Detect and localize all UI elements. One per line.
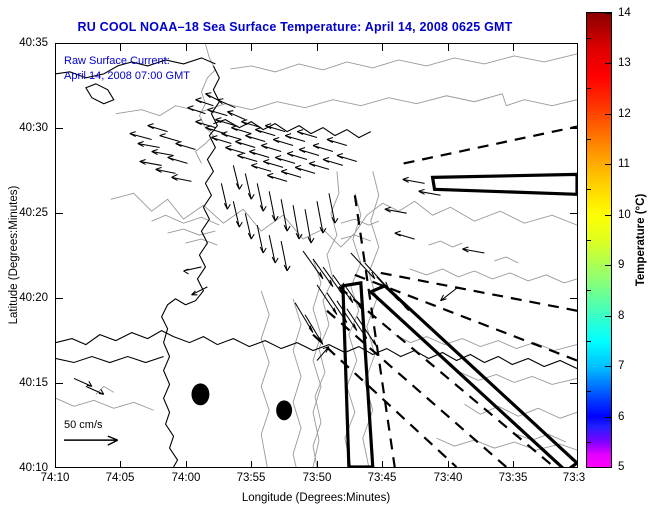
colorbar-tick-label: 6 (618, 411, 624, 423)
colorbar-tick-label: 14 (618, 7, 631, 19)
x-tick-label: 73:3 (563, 472, 585, 484)
station-markers (191, 383, 292, 420)
coastline (56, 58, 577, 467)
x-tick-label: 73:35 (499, 472, 528, 484)
current-annotation-line1: Raw Surface Current: (64, 54, 170, 69)
y-tick-label: 40:25 (19, 207, 48, 219)
y-tick-label: 40:20 (19, 292, 48, 304)
sst-map-figure: RU COOL NOAA–18 Sea Surface Temperature:… (0, 0, 651, 519)
colorbar-tick-label: 11 (618, 158, 630, 170)
figure-title: RU COOL NOAA–18 Sea Surface Temperature:… (0, 20, 590, 34)
colorbar-tick-label: 10 (618, 209, 631, 221)
surface-current-vectors (74, 93, 484, 395)
current-annotation-line2: April 14, 2008 07:00 GMT (64, 69, 190, 84)
colorbar-tick-label: 8 (618, 310, 624, 322)
x-tick-label: 73:55 (237, 472, 266, 484)
x-tick-label: 74:00 (172, 472, 201, 484)
x-tick-label: 73:50 (303, 472, 332, 484)
map-graphics (56, 44, 577, 467)
x-tick-label: 73:45 (368, 472, 397, 484)
x-tick-label: 73:40 (434, 472, 463, 484)
colorbar-tick-label: 12 (618, 108, 631, 120)
sst-contour-lines (56, 44, 577, 467)
x-axis-label: Longitude (Degrees:Minutes) (242, 492, 390, 504)
scalebar-arrow (64, 436, 118, 445)
station-marker (276, 400, 292, 420)
colorbar-tick-label: 5 (618, 461, 624, 473)
y-tick-label: 40:35 (19, 37, 48, 49)
station-marker (191, 383, 209, 405)
colorbar-label: Temperature (°C) (635, 194, 647, 287)
map-plot-area[interactable]: Raw Surface Current: April 14, 2008 07:0… (55, 43, 578, 468)
x-tick-label: 74:10 (41, 472, 70, 484)
x-tick-label: 74:05 (106, 472, 135, 484)
y-axis-label: Latitude (Degrees:Minutes) (8, 186, 20, 325)
y-tick-label: 40:30 (19, 122, 48, 134)
colorbar-tick-label: 9 (618, 259, 624, 271)
colorbar-tick-label: 7 (618, 360, 624, 372)
scalebar-label: 50 cm/s (64, 419, 103, 431)
colorbar-tick-label: 13 (618, 57, 631, 69)
y-tick-label: 40:15 (19, 377, 48, 389)
